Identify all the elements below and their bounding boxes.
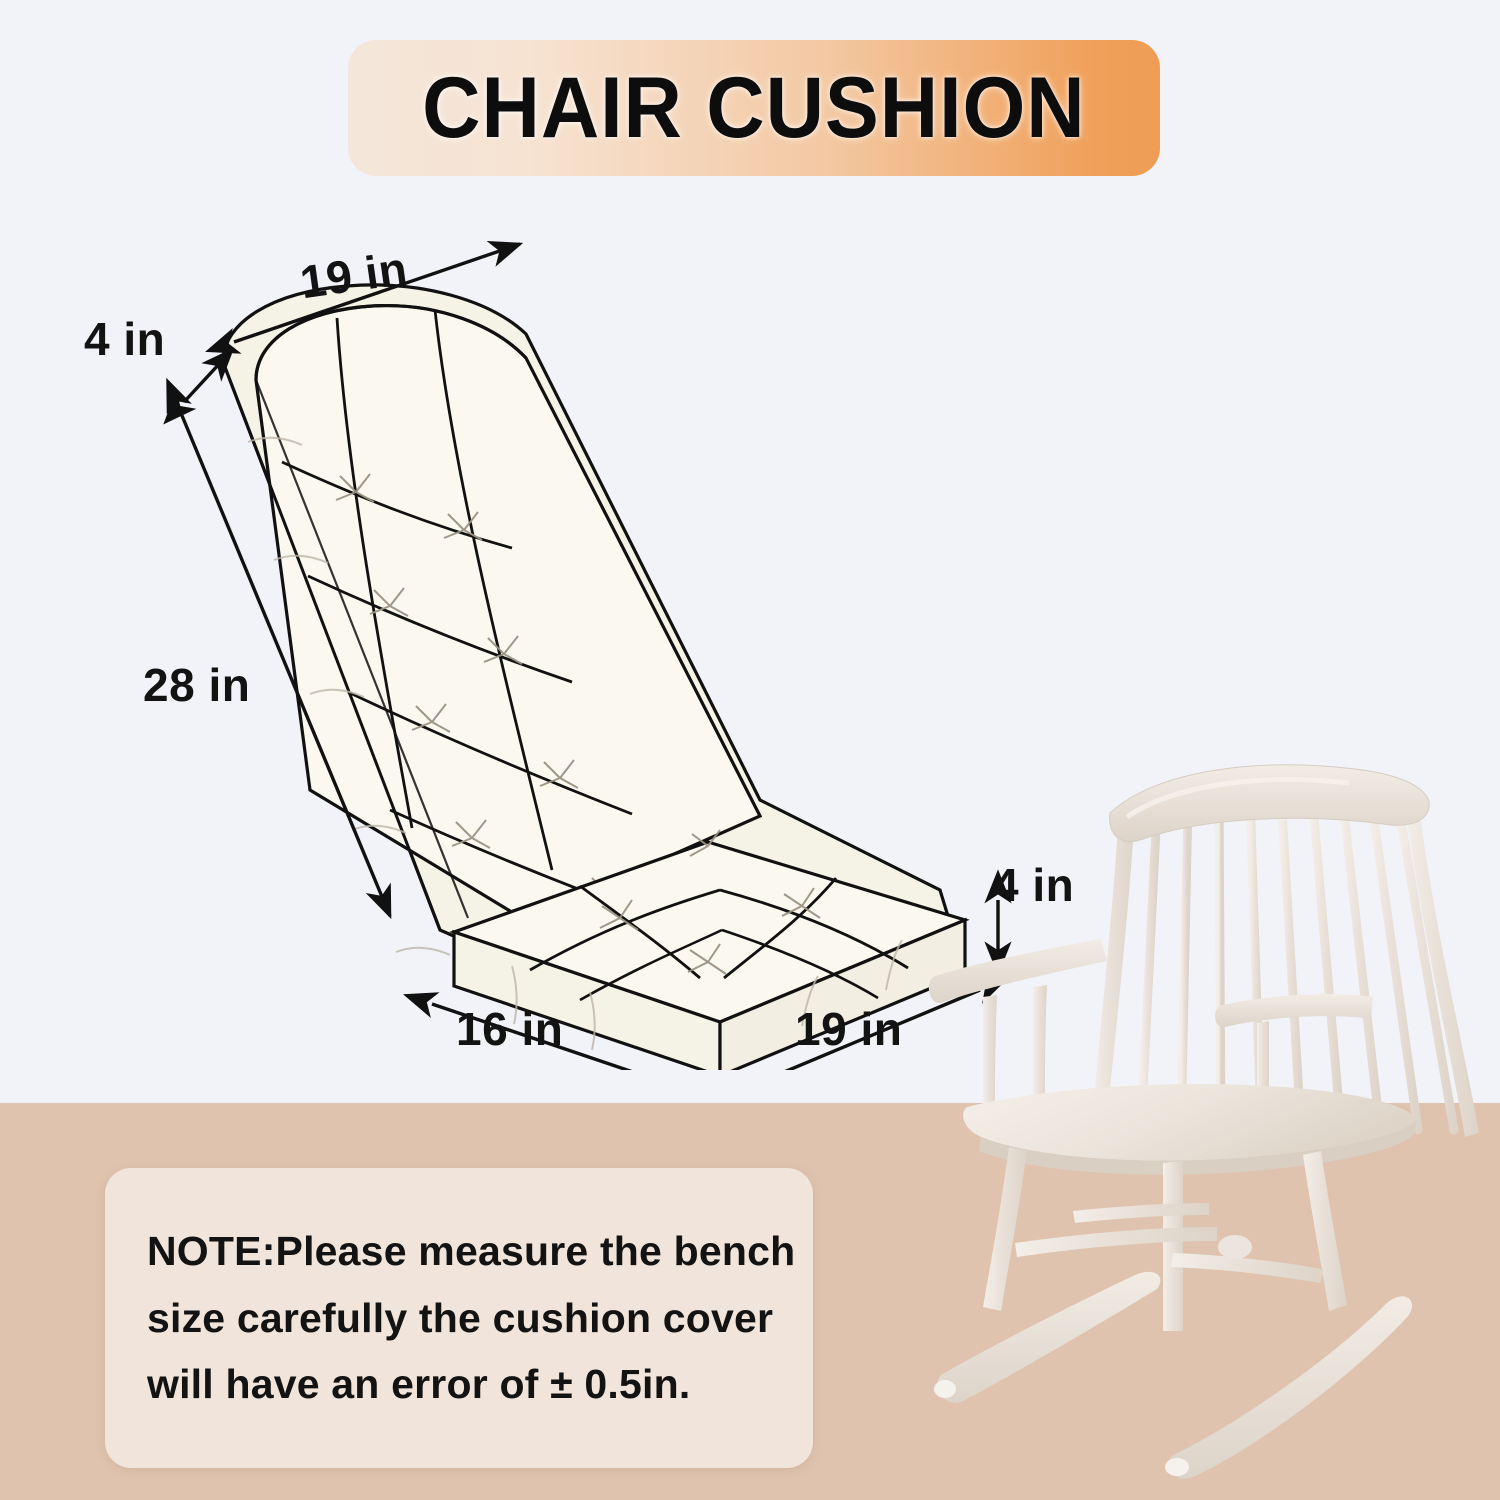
infographic-page: CHAIR CUSHION [0,0,1500,1500]
chair-legs-and-rockers [934,1147,1412,1479]
dimension-label-seat-depth: 16 in [456,1002,563,1056]
cushion-outline [223,285,965,1070]
title-banner: CHAIR CUSHION [348,40,1160,176]
dimension-label-back-thickness: 4 in [84,312,165,366]
rocking-chair-photo [905,755,1500,1500]
chair-seat [963,1084,1417,1175]
chair-back [1091,765,1479,1139]
note-line-1: NOTE:Please measure the bench [147,1218,771,1284]
note-line-2: size carefully the cushion cover [147,1285,771,1351]
dimension-label-back-height: 28 in [143,658,250,712]
note-box: NOTE:Please measure the bench size caref… [105,1168,813,1468]
dimension-label-seat-width: 19 in [795,1002,902,1056]
note-line-3: will have an error of ± 0.5in. [147,1351,771,1417]
page-title: CHAIR CUSHION [422,59,1085,158]
